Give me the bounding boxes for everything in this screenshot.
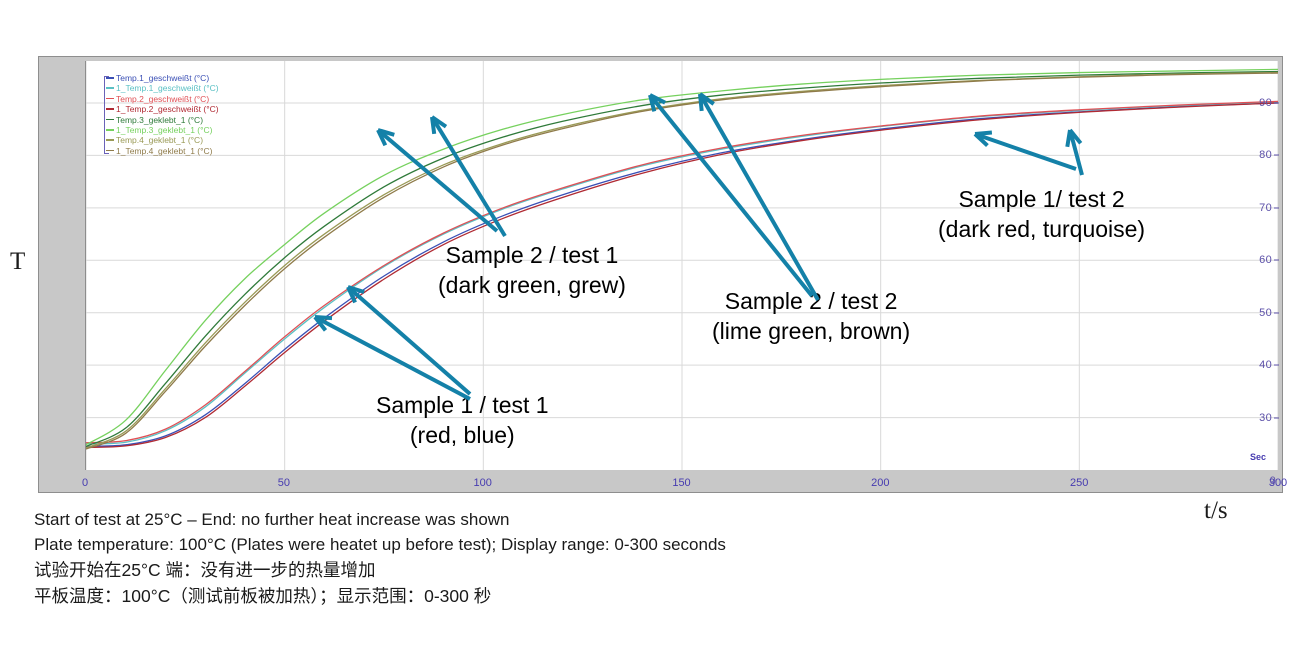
legend-swatch-icon: [106, 77, 114, 79]
legend-item-label: Temp.3_geklebt_1 (°C): [116, 115, 203, 125]
annotation-sample-1-test-1: Sample 1 / test 1 (red, blue): [376, 390, 549, 450]
annotation-line-2: (lime green, brown): [712, 316, 910, 346]
x-tick-label: 50: [278, 477, 290, 489]
gridlines: [86, 61, 1278, 470]
legend-item[interactable]: Temp.3_geklebt_1 (°C): [104, 115, 219, 125]
legend-item-label: 1_Temp.3_geklebt_1 (°C): [116, 125, 212, 135]
legend-swatch-icon: [106, 150, 114, 152]
y-tick-mark: [1274, 155, 1279, 156]
legend-item[interactable]: Temp.2_geschweißt (°C): [104, 94, 219, 104]
caption-line-en-1: Start of test at 25°C – End: no further …: [34, 507, 1234, 532]
y-tick-mark: [1274, 312, 1279, 313]
caption-block: Start of test at 25°C – End: no further …: [34, 507, 1234, 609]
legend-swatch-icon: [106, 98, 114, 100]
annotation-line-2: (red, blue): [376, 420, 549, 450]
legend-item-label: 1_Temp.4_geklebt_1 (°C): [116, 146, 212, 156]
annotation-line-2: (dark red, turquoise): [938, 214, 1145, 244]
y-tick-mark: [1274, 102, 1279, 103]
x-tick-label: 200: [871, 477, 889, 489]
y-axis-gutter: [39, 57, 85, 492]
legend-item[interactable]: 1_Temp.1_geschweißt (°C): [104, 83, 219, 93]
y-tick-label: 70: [1259, 202, 1272, 214]
y-tick-label: 80: [1259, 149, 1272, 161]
annotation-line-1: Sample 2 / test 2: [712, 286, 910, 316]
legend-item-label: 1_Temp.2_geschweißt (°C): [116, 104, 219, 114]
legend-item[interactable]: 1_Temp.4_geklebt_1 (°C): [104, 146, 219, 156]
legend-item[interactable]: 1_Temp.2_geschweißt (°C): [104, 104, 219, 114]
plot-area[interactable]: Temp.1_geschweißt (°C)1_Temp.1_geschweiß…: [85, 61, 1278, 470]
legend-swatch-icon: [106, 108, 114, 110]
legend-swatch-icon: [106, 119, 114, 121]
annotation-line-1: Sample 2 / test 1: [438, 240, 626, 270]
legend-item-label: Temp.1_geschweißt (°C): [116, 73, 209, 83]
y-tick-mark: [1274, 260, 1279, 261]
caption-line-cn-2: 平板温度：100°C（测试前板被加热）；显示范围：0-300 秒: [34, 583, 1234, 609]
legend-swatch-icon: [106, 87, 114, 89]
legend-swatch-icon: [106, 129, 114, 131]
y-tick-label: 30: [1259, 412, 1272, 424]
x-tick-label: 250: [1070, 477, 1088, 489]
legend-item-label: Temp.4_geklebt_1 (°C): [116, 135, 203, 145]
annotation-line-1: Sample 1/ test 2: [938, 184, 1145, 214]
legend-item[interactable]: Temp.4_geklebt_1 (°C): [104, 135, 219, 145]
y-axis-title: T: [10, 248, 25, 276]
y-tick-label: 40: [1259, 359, 1272, 371]
annotation-sample-2-test-2: Sample 2 / test 2 (lime green, brown): [712, 286, 910, 346]
x-axis-gutter: [39, 468, 1282, 492]
annotation-line-1: Sample 1 / test 1: [376, 390, 549, 420]
chart-frame: Temp.1_geschweißt (°C)1_Temp.1_geschweiß…: [38, 56, 1283, 493]
y-tick-label: 50: [1259, 307, 1272, 319]
legend-item-label: Temp.2_geschweißt (°C): [116, 94, 209, 104]
caption-line-cn-1: 试验开始在25°C 端：没有进一步的热量增加: [34, 557, 1234, 583]
y-tick-mark: [1274, 417, 1279, 418]
x-tick-label: 100: [473, 477, 491, 489]
x-unit-label: Sec: [1250, 452, 1266, 462]
x-tick-label: 150: [672, 477, 690, 489]
legend-swatch-icon: [106, 139, 114, 141]
legend-item-label: 1_Temp.1_geschweißt (°C): [116, 83, 219, 93]
annotation-sample-2-test-1: Sample 2 / test 1 (dark green, grew): [438, 240, 626, 300]
caption-line-en-2: Plate temperature: 100°C (Plates were he…: [34, 532, 1234, 557]
annotation-line-2: (dark green, grew): [438, 270, 626, 300]
y-tick-mark: [1274, 365, 1279, 366]
y-tick-label: 60: [1259, 254, 1272, 266]
plot-svg: [86, 61, 1278, 470]
legend: Temp.1_geschweißt (°C)1_Temp.1_geschweiß…: [104, 73, 219, 156]
legend-item[interactable]: Temp.1_geschweißt (°C): [104, 73, 219, 83]
figure-root: T t/s Temp.1_geschweißt (°C)1_Temp.1_ges…: [0, 0, 1300, 650]
legend-item[interactable]: 1_Temp.3_geklebt_1 (°C): [104, 125, 219, 135]
x-tick-label: 0: [82, 477, 88, 489]
x-tick-label: 300: [1269, 477, 1287, 489]
annotation-sample-1-test-2: Sample 1/ test 2 (dark red, turquoise): [938, 184, 1145, 244]
y-tick-label: 90: [1259, 97, 1272, 109]
y-tick-mark: [1274, 207, 1279, 208]
